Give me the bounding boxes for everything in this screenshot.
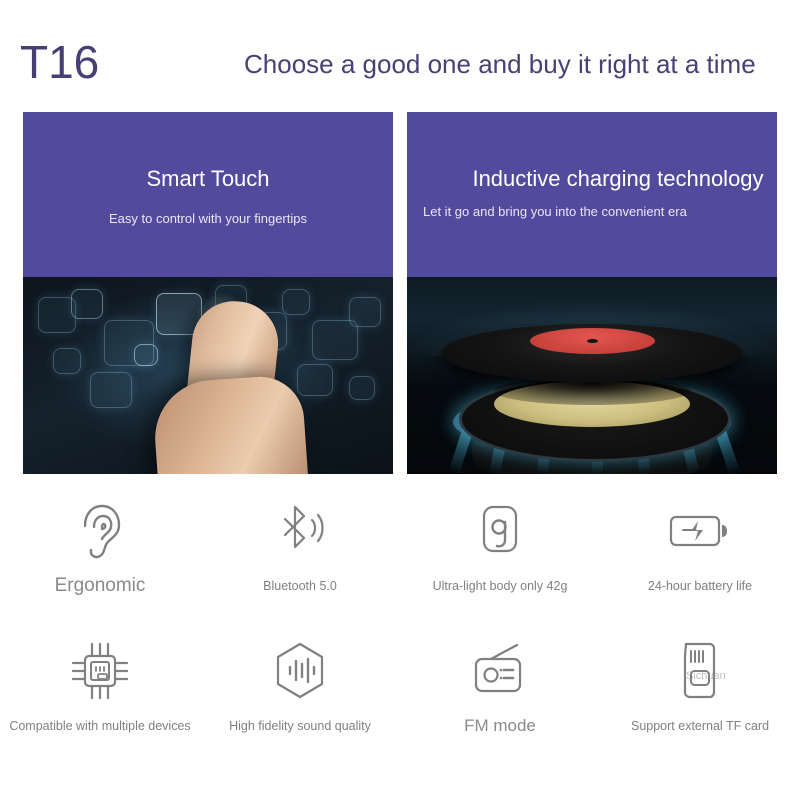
feature-label: Bluetooth 5.0 (200, 577, 400, 595)
feature-sound-quality: High fidelity sound quality (200, 635, 400, 775)
feature-ergonomic: Ergonomic (0, 495, 200, 635)
feature-label: Ultra-light body only 42g (400, 577, 600, 595)
feature-battery-life: 24-hour battery life (600, 495, 800, 635)
panel-caption-block: Smart Touch Easy to control with your fi… (23, 112, 393, 277)
feature-icon-grid: Ergonomic Bluetooth 5.0 Ultra-light (0, 495, 800, 775)
feature-compatibility: Compatible with multiple devices (0, 635, 200, 775)
touchscreen-photo (23, 277, 393, 474)
ear-icon (0, 495, 200, 567)
feature-panel-smart-touch: Smart Touch Easy to control with your fi… (23, 112, 393, 474)
cpu-chip-icon (0, 635, 200, 707)
feature-label: Ergonomic (0, 577, 200, 595)
feature-label: Support external TF card (600, 717, 800, 735)
panel-title: Smart Touch (23, 165, 393, 193)
feature-panels: Smart Touch Easy to control with your fi… (23, 112, 777, 474)
feature-panel-inductive-charging: Inductive charging technology Let it go … (407, 112, 777, 474)
panel-subtitle: Easy to control with your fingertips (23, 212, 393, 226)
feature-label: 24-hour battery life (600, 577, 800, 595)
panel-photo-inductive-charging (407, 277, 777, 474)
sd-card-icon (600, 635, 800, 707)
feature-row: Ergonomic Bluetooth 5.0 Ultra-light (0, 495, 800, 635)
feature-fm-mode: FM mode (400, 635, 600, 775)
feature-label: FM mode (400, 717, 600, 735)
feature-row: Compatible with multiple devices High fi… (0, 635, 800, 775)
feature-label: Compatible with multiple devices (0, 717, 200, 735)
page-tagline: Choose a good one and buy it right at a … (244, 48, 800, 80)
panel-photo-smart-touch (23, 277, 393, 474)
product-model-title: T16 (20, 36, 99, 88)
panel-subtitle: Let it go and bring you into the conveni… (423, 205, 723, 219)
wireless-charger-photo (407, 277, 777, 474)
feature-ultra-light: Ultra-light body only 42g (400, 495, 600, 635)
page-header: T16 Choose a good one and buy it right a… (0, 0, 800, 105)
feature-tf-card: Support external TF card (600, 635, 800, 775)
sound-wave-hexagon-icon (200, 635, 400, 707)
battery-charging-icon (600, 495, 800, 567)
feature-label: High fidelity sound quality (200, 717, 400, 735)
feature-bluetooth: Bluetooth 5.0 (200, 495, 400, 635)
bluetooth-icon (200, 495, 400, 567)
radio-icon (400, 635, 600, 707)
weight-g-icon (400, 495, 600, 567)
panel-title: Inductive charging technology (433, 165, 777, 193)
panel-caption-block: Inductive charging technology Let it go … (407, 112, 777, 277)
